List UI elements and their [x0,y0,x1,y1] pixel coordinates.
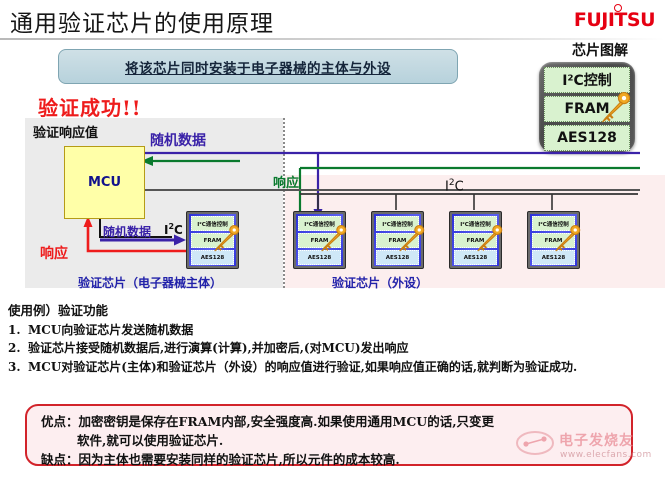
fujitsu-logo-dot-icon [614,4,622,12]
pros-text: 加密密钥是保存在FRAM内部,安全强度高.如果使用通用MCU的话,只变更 [79,414,495,429]
verification-success-label: 验证成功!! [38,92,142,121]
watermark-text: 电子发烧友 [559,430,634,450]
chip-legend-row-i2c: I²C控制 [544,67,630,93]
mcu-block: MCU [64,146,145,219]
usage-item-text: MCU向验证芯片发送随机数据 [28,322,656,339]
cons-label: 缺点： [41,452,79,467]
key-icon [552,223,582,255]
usage-section: 使用例）验证功能 1. MCU向验证芯片发送随机数据 2. 验证芯片接受随机数据… [8,300,656,377]
label-random-data-top: 随机数据 [150,130,206,150]
usage-item-number: 1. [8,322,28,339]
usage-item: 1. MCU向验证芯片发送随机数据 [8,322,656,339]
diagram-panel-divider [283,118,285,288]
label-response-green: 响应 [273,172,299,191]
mcu-label: MCU [88,175,121,190]
chip-legend-row-fram: FRAM [544,96,630,122]
sub-banner-text: 将该芯片同时安装于电子器械的主体与外设 [125,57,391,77]
sub-banner: 将该芯片同时安装于电子器械的主体与外设 [58,49,458,84]
usage-heading: 使用例）验证功能 [8,300,656,319]
cons-text: 因为主体也需要安装同样的验证芯片,所以元件的成本较高. [79,452,400,467]
verification-response-value-label: 验证响应值 [33,122,98,141]
usage-item-number: 2. [8,340,28,357]
chip-legend-row-aes: AES128 [544,125,630,151]
chip-legend-module: I²C控制 FRAM AES128 [539,62,635,152]
usage-item: 3. MCU对验证芯片(主体)和验证芯片（外设）的响应值进行验证,如果响应值正确… [8,359,656,376]
page-header: 通用验证芯片的使用原理 FUJITSU [0,0,665,40]
usage-item-text: 验证芯片接受随机数据后,进行演算(计算),并加密后,(对MCU)发出响应 [28,340,656,357]
usage-item-number: 3. [8,359,28,376]
chip-module-peripheral-4: I²C通信控制 FRAM AES128 [527,211,580,269]
label-i2c-mid: I2C [164,222,183,237]
label-response-red: 响应 [40,243,68,263]
usage-item: 2. 验证芯片接受随机数据后,进行演算(计算),并加密后,(对MCU)发出响应 [8,340,656,357]
key-icon [318,223,348,255]
chip-legend-title: 芯片图解 [545,40,655,60]
usage-item-text: MCU对验证芯片(主体)和验证芯片（外设）的响应值进行验证,如果响应值正确的话,… [28,359,656,376]
pros-label: 优点： [41,414,79,429]
watermark-url: www.elecfans.com [560,450,652,460]
caption-peripheral: 验证芯片（外设） [332,274,428,291]
elecfans-swoosh-icon [516,428,556,458]
chip-module-peripheral-2: I²C通信控制 FRAM AES128 [371,211,424,269]
watermark: 电子发烧友 www.elecfans.com [516,428,661,476]
key-icon [474,223,504,255]
key-icon [211,223,241,255]
fujitsu-logo-text: FUJITSU [574,9,655,31]
label-i2c-bus: I2C [445,178,464,194]
chip-module-main-device: I²C通信控制 FRAM AES128 [186,211,239,269]
fujitsu-logo: FUJITSU [574,9,655,31]
key-icon [396,223,426,255]
caption-main-device: 验证芯片（电子器械主体） [78,274,222,291]
page-title: 通用验证芯片的使用原理 [10,4,274,38]
label-random-data-mid: 随机数据 [103,223,151,240]
chip-module-peripheral-3: I²C通信控制 FRAM AES128 [449,211,502,269]
chip-module-peripheral-1: I²C通信控制 FRAM AES128 [293,211,346,269]
